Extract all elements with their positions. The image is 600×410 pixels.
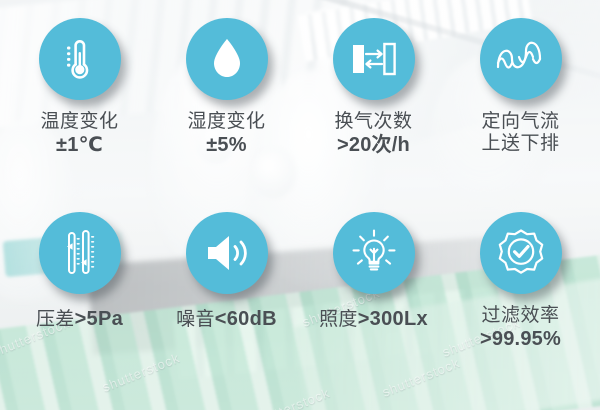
metric-value: >99.95% (480, 328, 561, 351)
metric-pressure[interactable]: 压差>5Pa (6, 208, 153, 398)
water-drop-icon (207, 35, 247, 83)
infographic-stage: shutterstock shutterstock shutterstock s… (0, 0, 600, 410)
metric-title: 噪音 (176, 309, 215, 330)
metric-title: 照度 (319, 309, 358, 330)
metric-title: 湿度变化 (187, 111, 265, 133)
metric-title: 压差 (36, 309, 75, 330)
metric-label: 照度>300Lx (319, 308, 428, 331)
metric-label: 换气次数 >20次/h (334, 111, 412, 157)
metric-title: 过滤效率 (480, 305, 561, 327)
lightbulb-icon (349, 228, 399, 278)
metric-text: 噪音<60dB (176, 308, 277, 331)
metrics-grid: 温度变化 ±1℃ 湿度变化 ±5% (0, 0, 600, 410)
metric-label: 温度变化 ±1℃ (40, 111, 118, 157)
icon-circle (333, 212, 415, 294)
metric-label: 噪音<60dB (176, 308, 277, 331)
metric-value: ±5% (187, 134, 265, 157)
metric-value: <60dB (215, 308, 277, 330)
icon-circle (39, 212, 121, 294)
icon-circle (333, 18, 415, 100)
metric-noise[interactable]: 噪音<60dB (153, 208, 300, 398)
metric-temperature[interactable]: 温度变化 ±1℃ (6, 18, 153, 208)
metric-value: >20次/h (334, 134, 412, 157)
metric-text: 压差>5Pa (36, 308, 123, 331)
metric-filter-efficiency[interactable]: 过滤效率 >99.95% (447, 208, 594, 398)
icon-circle (186, 18, 268, 100)
metric-value: 上送下排 (481, 133, 559, 155)
metric-value: ±1℃ (40, 134, 118, 157)
metric-label: 过滤效率 >99.95% (480, 305, 561, 351)
pressure-slider-icon (58, 229, 102, 277)
icon-circle (39, 18, 121, 100)
airflow-wave-icon (495, 39, 547, 79)
metric-title: 温度变化 (40, 111, 118, 133)
icon-circle (186, 212, 268, 294)
metric-label: 湿度变化 ±5% (187, 111, 265, 157)
metric-title: 定向气流 (481, 111, 559, 133)
metric-air-exchange[interactable]: 换气次数 >20次/h (300, 18, 447, 208)
metric-airflow[interactable]: 定向气流 上送下排 (447, 18, 594, 208)
speaker-icon (203, 232, 251, 274)
metric-title: 换气次数 (334, 111, 412, 133)
metric-humidity[interactable]: 湿度变化 ±5% (153, 18, 300, 208)
metric-value: >5Pa (75, 308, 123, 330)
metric-text: 照度>300Lx (319, 308, 428, 331)
metric-label: 定向气流 上送下排 (481, 111, 559, 155)
icon-circle (480, 212, 562, 294)
thermometer-icon (58, 36, 102, 82)
metric-illuminance[interactable]: 照度>300Lx (300, 208, 447, 398)
icon-circle (480, 18, 562, 100)
air-exchange-icon (349, 37, 399, 81)
metric-label: 压差>5Pa (36, 308, 123, 331)
metric-value: >300Lx (358, 308, 428, 330)
filter-badge-icon (495, 227, 547, 279)
